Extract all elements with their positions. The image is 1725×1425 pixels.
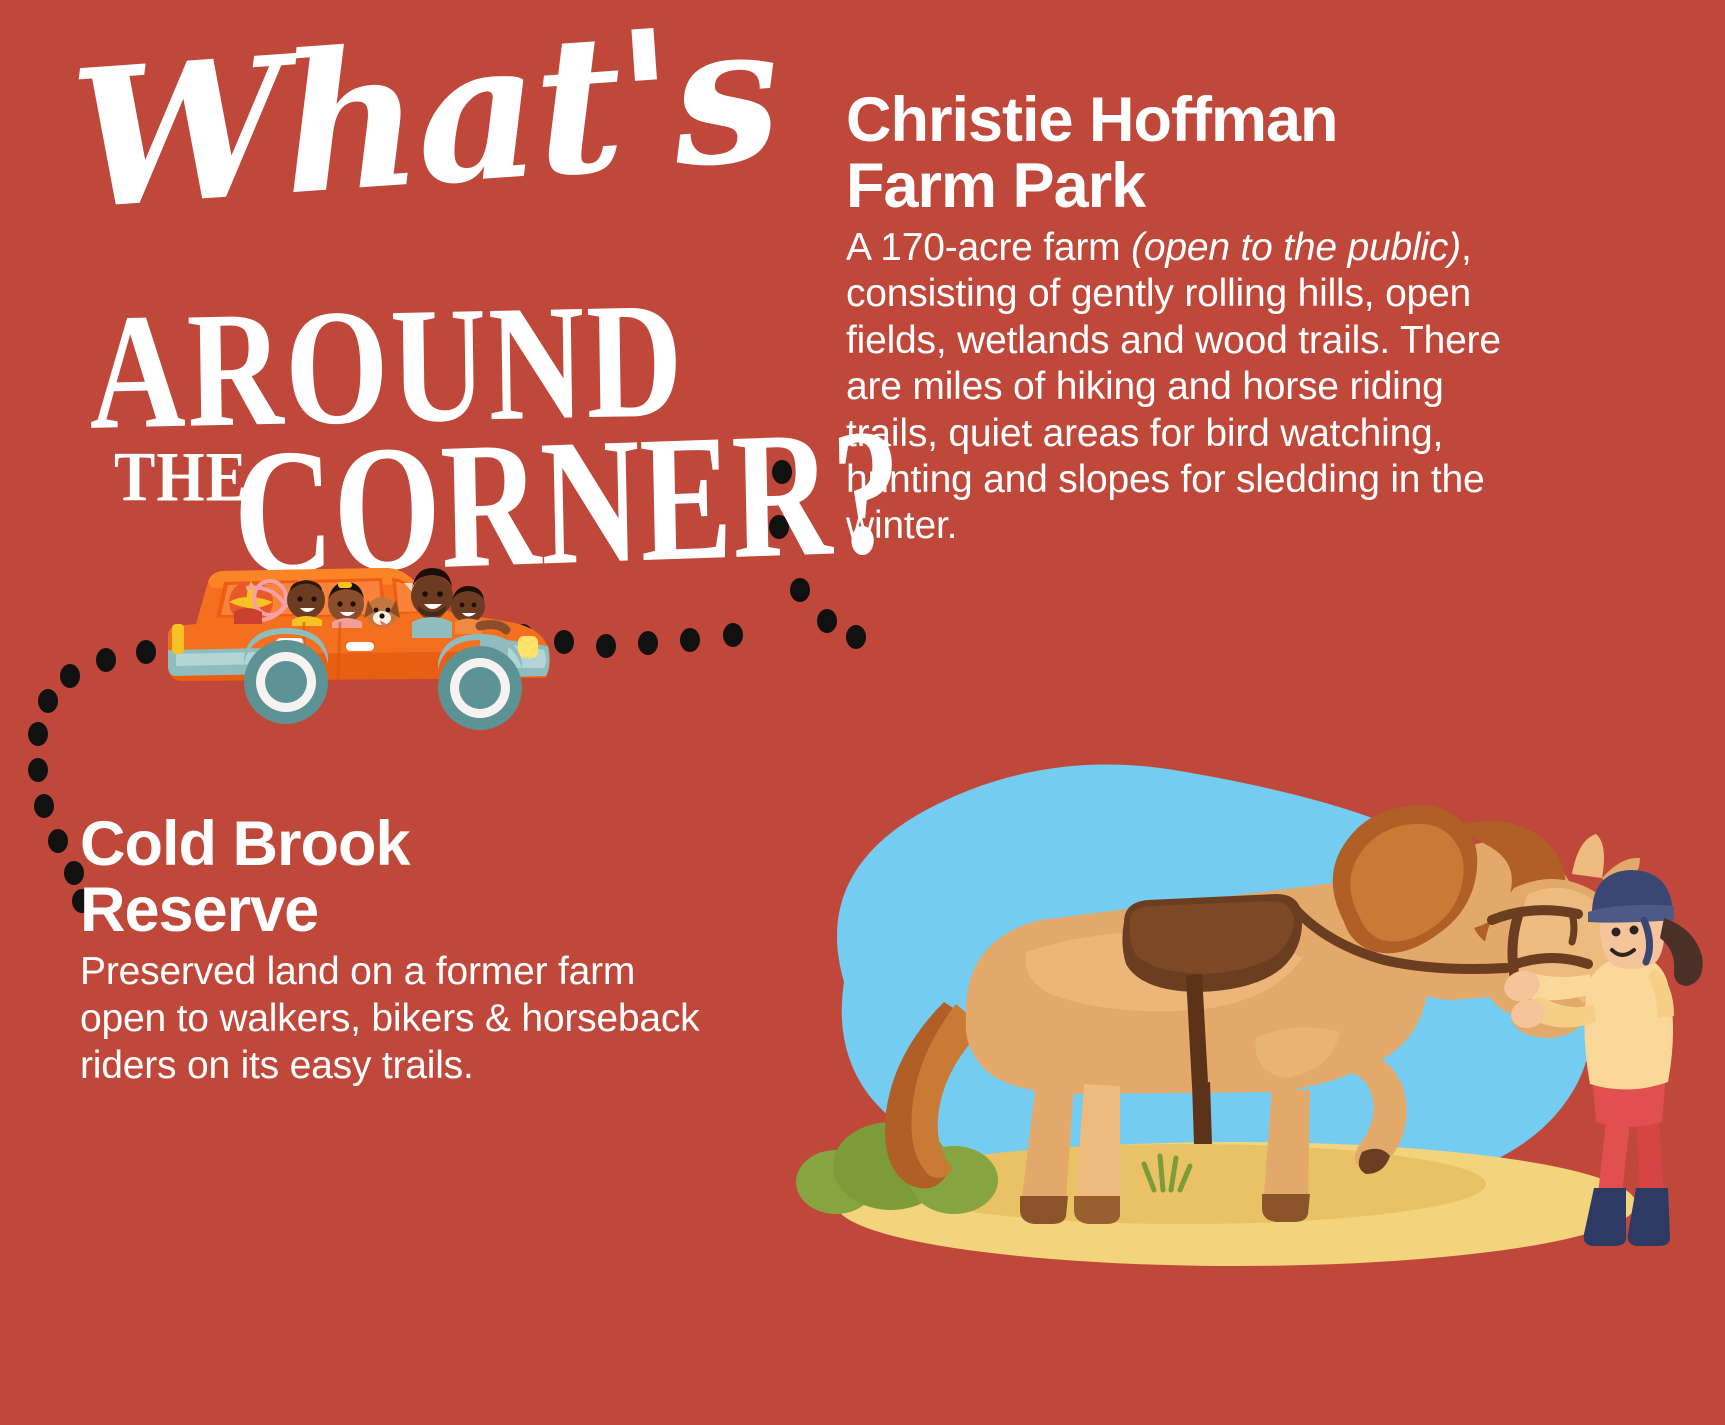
park-desc-italic: (open to the public) — [1131, 226, 1461, 269]
route-dot — [28, 758, 48, 782]
route-dot — [846, 625, 866, 649]
route-dot — [38, 689, 58, 713]
girl-with-horse-illustration — [716, 752, 1725, 1272]
route-dot — [723, 623, 743, 647]
cold-brook-title-line2: Reserve — [80, 875, 318, 945]
infographic-canvas: What's AROUND THE CORNER? — [0, 0, 1725, 1425]
headline-the: THE — [114, 442, 248, 513]
park-title-line1: Christie Hoffman — [846, 85, 1338, 155]
cold-brook-description: Preserved land on a former farm open to … — [80, 949, 720, 1089]
family-in-suv-illustration — [150, 538, 560, 733]
route-dot — [28, 722, 48, 746]
route-dot — [638, 631, 658, 655]
page-title: What's AROUND THE CORNER? — [36, 46, 796, 546]
park-title-line2: Farm Park — [846, 151, 1145, 221]
cold-brook-section: Cold Brook Reserve Preserved land on a f… — [80, 812, 720, 1089]
route-dot — [680, 628, 700, 652]
headline-script-line: What's — [67, 0, 782, 236]
route-dot — [34, 794, 54, 818]
park-title: Christie Hoffman Farm Park — [846, 88, 1506, 219]
route-dot — [596, 634, 616, 658]
cold-brook-title-line1: Cold Brook — [80, 809, 410, 879]
route-dot — [817, 609, 837, 633]
route-dot — [60, 664, 80, 688]
route-dot — [96, 648, 116, 672]
route-dot — [48, 829, 68, 853]
park-desc-part1: A 170-acre farm — [846, 226, 1131, 269]
christie-hoffman-section: Christie Hoffman Farm Park A 170-acre fa… — [846, 88, 1506, 550]
park-desc-part2: , consisting of gently rolling hills, op… — [846, 226, 1501, 547]
park-description: A 170-acre farm (open to the public), co… — [846, 225, 1506, 550]
cold-brook-title: Cold Brook Reserve — [80, 812, 720, 943]
